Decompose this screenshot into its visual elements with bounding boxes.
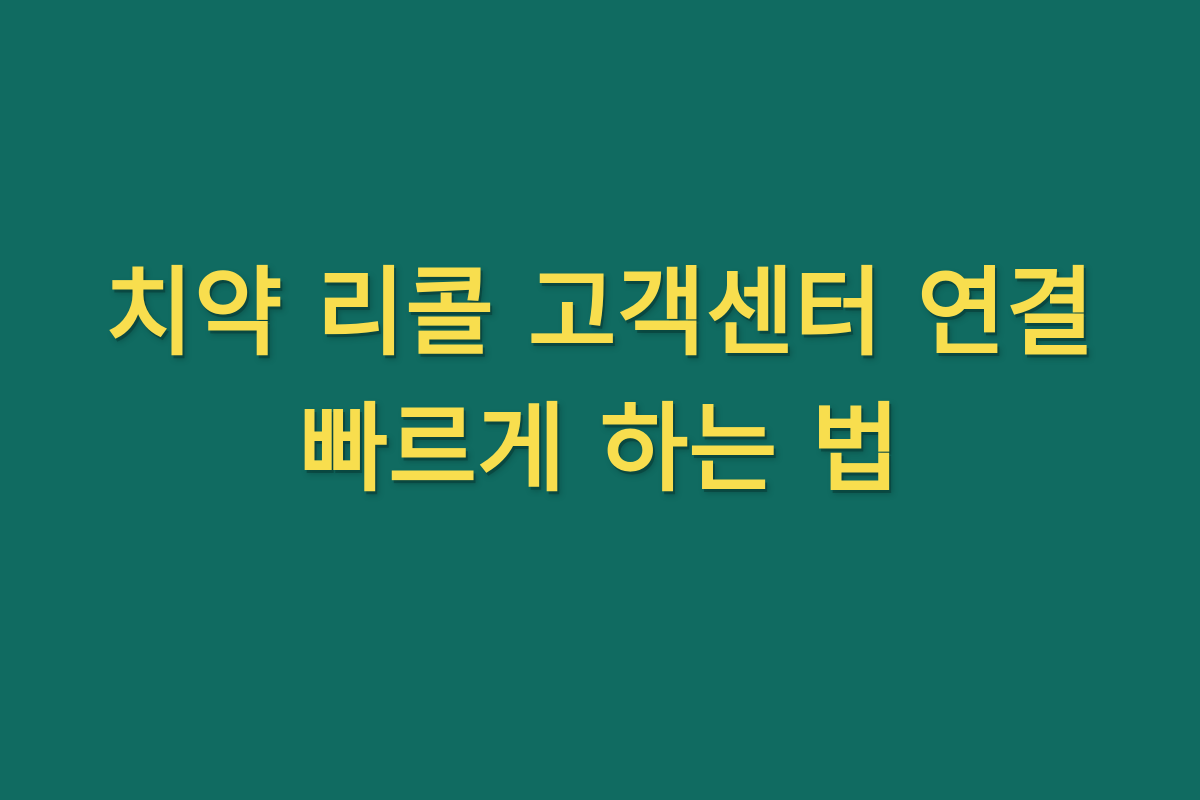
headline-block: 치약 리콜 고객센터 연결 빠르게 하는 법 [0, 245, 1200, 518]
thumbnail-card: 치약 리콜 고객센터 연결 빠르게 하는 법 [0, 0, 1200, 800]
headline-line-1: 치약 리콜 고객센터 연결 [105, 245, 1095, 381]
headline-line-2: 빠르게 하는 법 [300, 381, 901, 517]
